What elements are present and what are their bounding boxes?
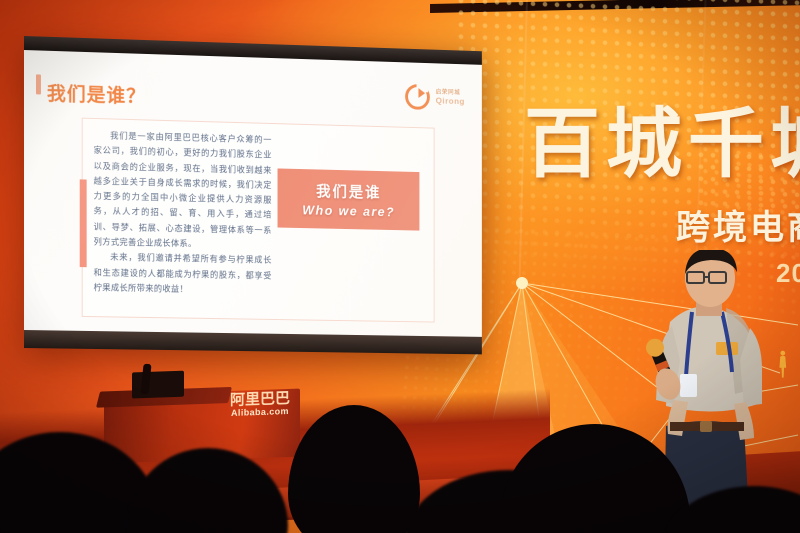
slide-callout-box: 我们是谁 Who we are? (278, 168, 420, 230)
slide-logo-text: 启荣同城 Qirong (436, 89, 465, 106)
conference-photo-scene: 百城千城 跨境电商 20 (0, 0, 800, 533)
podium-logo: 阿里巴巴 Alibaba.com (230, 391, 290, 418)
callout-cn-text: 我们是谁 (316, 180, 381, 202)
backdrop-subheadline: 跨境电商 (676, 200, 800, 249)
slide-title: 我们是谁？ (47, 79, 146, 109)
slide-logo-en: Qirong (436, 96, 465, 106)
title-accent-tick (36, 74, 41, 94)
projection-screen: 我们是谁？ 启荣同城 Qirong 我们是一家由阿里巴巴核心客户众筹的一家公司，… (24, 36, 482, 354)
backdrop-headline: 百城千城 (524, 106, 800, 182)
slide-logo: 启荣同城 Qirong (405, 84, 465, 111)
speaker-belt-buckle (700, 421, 712, 432)
slide-body-text: 我们是一家由阿里巴巴核心客户众筹的一家公司，我们的初心，更好的力我们股东企业以及… (94, 128, 272, 299)
podium-equipment-box (132, 371, 184, 399)
callout-en-text: Who we are? (302, 203, 395, 220)
body-accent-bar (80, 179, 87, 267)
circle-arrow-icon (405, 84, 430, 110)
presentation-slide: 我们是谁？ 启荣同城 Qirong 我们是一家由阿里巴巴核心客户众筹的一家公司，… (24, 50, 482, 337)
body-paragraph-2: 未来，我们邀请并希望所有参与柠果成长和生态建设的人都能成为柠果的股东，都享受柠果… (94, 250, 272, 299)
body-paragraph-1: 我们是一家由阿里巴巴核心客户众筹的一家公司，我们的初心，更好的力我们股东企业以及… (94, 128, 272, 253)
speaker-badge-card (680, 374, 697, 397)
